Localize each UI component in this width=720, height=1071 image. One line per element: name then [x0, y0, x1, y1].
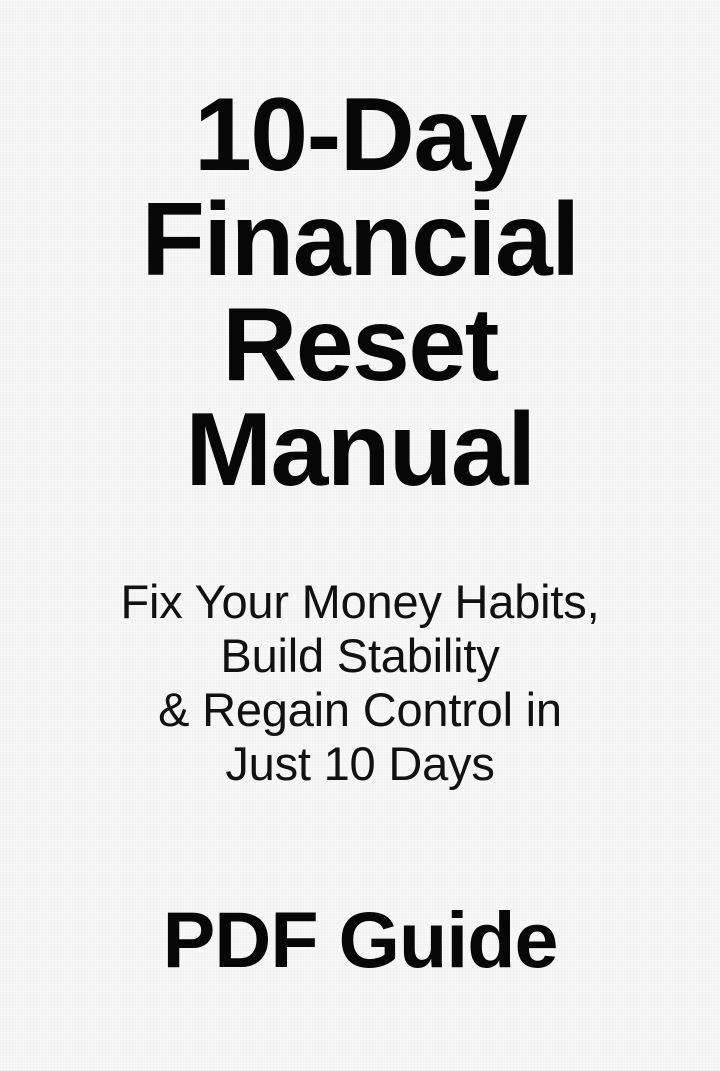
- title-line-2: Financial: [0, 188, 720, 293]
- subtitle-line-2: Build Stability: [0, 629, 720, 683]
- title-line-1: 10-Day: [0, 83, 720, 188]
- subtitle-line-3: & Regain Control in: [0, 683, 720, 737]
- ebook-cover-page: 10-Day Financial Reset Manual Fix Your M…: [0, 0, 720, 1071]
- page-subtitle: Fix Your Money Habits, Build Stability &…: [0, 575, 720, 791]
- title-line-3: Reset: [0, 293, 720, 398]
- title-line-4: Manual: [0, 398, 720, 503]
- format-label: PDF Guide: [0, 899, 720, 981]
- page-title: 10-Day Financial Reset Manual: [0, 83, 720, 503]
- subtitle-line-1: Fix Your Money Habits,: [0, 575, 720, 629]
- subtitle-line-4: Just 10 Days: [0, 737, 720, 791]
